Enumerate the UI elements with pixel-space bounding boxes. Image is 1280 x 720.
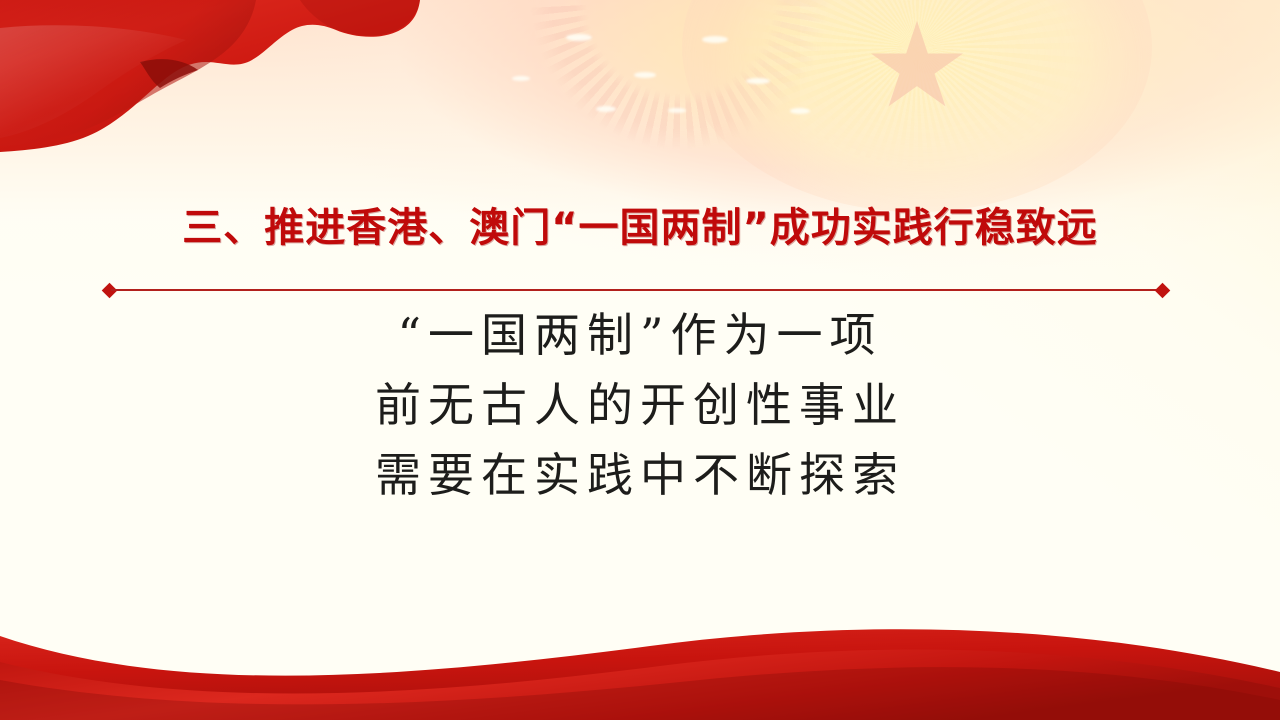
speck <box>596 106 616 112</box>
speck <box>790 108 810 114</box>
quote-line: 前无古人的开创性事业 <box>0 370 1280 440</box>
speck <box>634 72 656 78</box>
red-wave-ribbon <box>0 590 1280 720</box>
quote-line: “一国两制”作为一项 <box>0 300 1280 370</box>
speck <box>702 36 728 43</box>
red-flag-drape <box>0 0 520 230</box>
quote-block: “一国两制”作为一项 前无古人的开创性事业 需要在实践中不断探索 <box>0 300 1280 510</box>
speck <box>746 78 770 84</box>
title-divider <box>104 283 1168 297</box>
speck <box>668 108 686 113</box>
title-block: 三、推进香港、澳门“一国两制”成功实践行稳致远 <box>0 204 1280 252</box>
speck <box>566 34 592 41</box>
divider-diamond-right-icon <box>1155 283 1171 299</box>
quote-line: 需要在实践中不断探索 <box>0 440 1280 510</box>
presentation-slide: 三、推进香港、澳门“一国两制”成功实践行稳致远 “一国两制”作为一项 前无古人的… <box>0 0 1280 720</box>
national-emblem-watermark <box>682 0 1152 212</box>
divider-line <box>111 289 1161 291</box>
page-title: 三、推进香港、澳门“一国两制”成功实践行稳致远 <box>0 204 1280 252</box>
